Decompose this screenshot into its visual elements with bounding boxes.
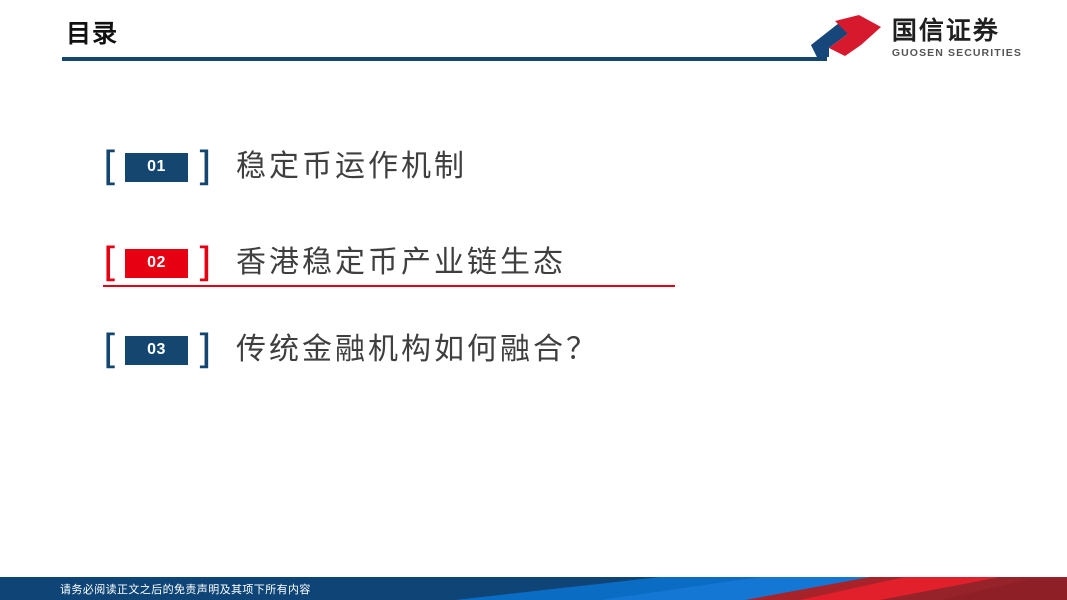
logo-wordmark: 国信证券 GUOSEN SECURITIES: [892, 15, 1022, 61]
toc-number-badge: 02: [125, 249, 188, 278]
toc-number-badge: 01: [125, 153, 188, 182]
toc-item-01[interactable]: [ 01 ] 稳定币运作机制: [103, 137, 467, 197]
page-title: 目录: [66, 18, 118, 50]
company-logo: 国信证券 GUOSEN SECURITIES: [809, 12, 1022, 64]
right-bracket-icon: ]: [196, 243, 210, 283]
toc-item-02[interactable]: [ 02 ] 香港稳定币产业链生态: [103, 233, 566, 293]
toc-item-03[interactable]: [ 03 ] 传统金融机构如何融合？: [103, 320, 599, 380]
toc-item-label: 香港稳定币产业链生态: [236, 244, 566, 282]
footer-disclaimer-text: 请务必阅读正文之后的免责声明及其项下所有内容: [60, 577, 311, 600]
toc-item-label: 稳定币运作机制: [236, 148, 467, 186]
left-bracket-icon: [: [103, 147, 117, 187]
slide-root: 目录 国信证券 GUOSEN SECURITIES [ 01 ]: [0, 0, 1067, 600]
right-bracket-icon: ]: [196, 147, 210, 187]
right-bracket-icon: ]: [196, 330, 210, 370]
toc-item-label: 传统金融机构如何融合？: [236, 331, 599, 369]
active-item-underline: [103, 285, 675, 287]
slide-footer: 请务必阅读正文之后的免责声明及其项下所有内容: [0, 577, 1067, 600]
logo-name-en: GUOSEN SECURITIES: [892, 46, 1022, 60]
logo-name-cn: 国信证券: [892, 17, 1022, 45]
slide-header: 目录 国信证券 GUOSEN SECURITIES: [0, 0, 1067, 75]
left-bracket-icon: [: [103, 330, 117, 370]
guosen-logo-mark-icon: [809, 15, 883, 61]
left-bracket-icon: [: [103, 243, 117, 283]
title-underline-rule: [62, 57, 827, 61]
toc-number-badge: 03: [125, 336, 188, 365]
